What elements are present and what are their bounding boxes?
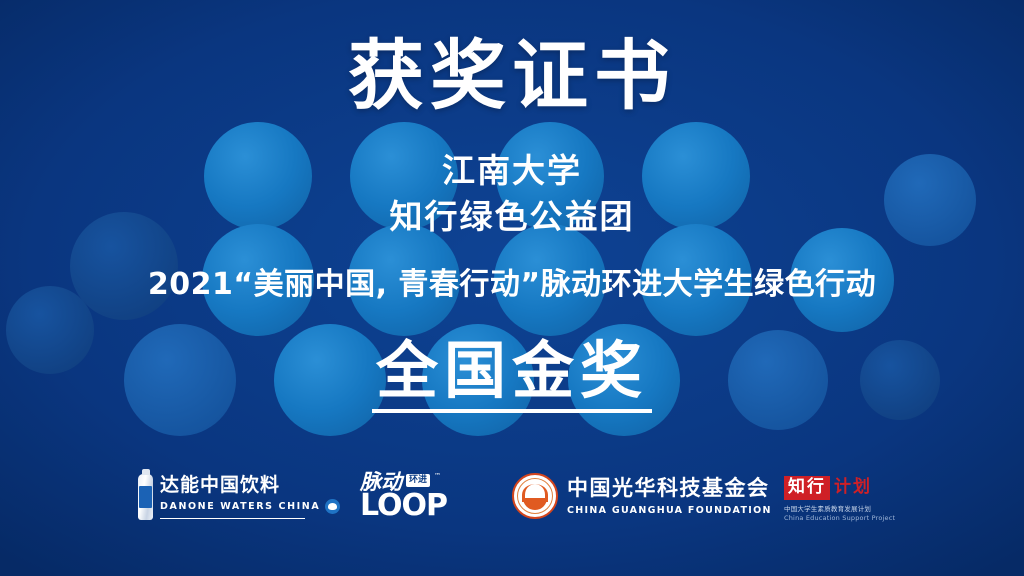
bottle-label-icon — [139, 486, 152, 508]
award-certificate: 获奖证书 江南大学 知行绿色公益团 2021“美丽中国, 青春行动”脉动环进大学… — [0, 0, 1024, 576]
zhixing-subtitle-en: China Education Support Project — [784, 514, 895, 522]
danone-text-block: 达能中国饮料 DANONE WATERS CHINA — [160, 475, 340, 519]
page-title: 获奖证书 — [0, 34, 1024, 118]
zhixing-title-row: 知行 计划 — [784, 476, 872, 500]
certificate-content: 获奖证书 江南大学 知行绿色公益团 2021“美丽中国, 青春行动”脉动环进大学… — [0, 0, 1024, 576]
organization-block: 江南大学 知行绿色公益团 — [0, 148, 1024, 239]
mizone-text-block: 脉动 环进 ™ LOOP — [360, 472, 447, 521]
guanghua-name-cn: 中国光华科技基金会 — [567, 476, 772, 501]
zhixing-text-block: 知行 计划 中国大学生素质教育发展计划 China Education Supp… — [784, 476, 895, 522]
danone-name-cn: 达能中国饮料 — [160, 475, 340, 497]
logo-danone-waters-china: 达能中国饮料 DANONE WATERS CHINA — [138, 474, 340, 520]
zhixing-subtitle-cn: 中国大学生素质教育发展计划 — [784, 503, 871, 513]
danone-en-row: DANONE WATERS CHINA — [160, 499, 340, 514]
mizone-badge-huanjin: 环进 — [406, 474, 430, 487]
danone-name-en: DANONE WATERS CHINA — [160, 501, 320, 512]
guanghua-text-block: 中国光华科技基金会 CHINA GUANGHUA FOUNDATION — [567, 476, 772, 515]
emblem-inner-ring — [517, 478, 553, 514]
sponsor-logo-strip: 达能中国饮料 DANONE WATERS CHINA 脉动 环进 ™ — [0, 470, 1024, 536]
logo-china-guanghua-foundation: 中国光华科技基金会 CHINA GUANGHUA FOUNDATION — [512, 473, 772, 519]
logo-mizone-loop: 脉动 环进 ™ LOOP — [360, 472, 447, 521]
danone-underline-rule — [160, 518, 305, 520]
guanghua-name-en: CHINA GUANGHUA FOUNDATION — [567, 505, 772, 516]
trademark-icon: ™ — [434, 472, 441, 480]
event-name: 2021“美丽中国, 青春行动”脉动环进大学生绿色行动 — [0, 259, 1024, 303]
zhixing-plan-text: 计划 — [834, 478, 872, 498]
award-level-wrapper: 全国金奖 — [0, 336, 1024, 413]
danone-swirl-icon — [325, 499, 340, 514]
logo-zhixing-plan: 知行 计划 中国大学生素质教育发展计划 China Education Supp… — [784, 476, 895, 522]
zhixing-seal: 知行 — [784, 476, 830, 500]
organization-line-university: 江南大学 — [0, 148, 1024, 194]
organization-line-team: 知行绿色公益团 — [0, 194, 1024, 240]
guanghua-flame-emblem-icon — [512, 473, 558, 519]
award-level: 全国金奖 — [372, 336, 652, 413]
mizone-wordmark-loop: LOOP — [360, 492, 447, 521]
water-bottle-icon — [138, 474, 153, 520]
